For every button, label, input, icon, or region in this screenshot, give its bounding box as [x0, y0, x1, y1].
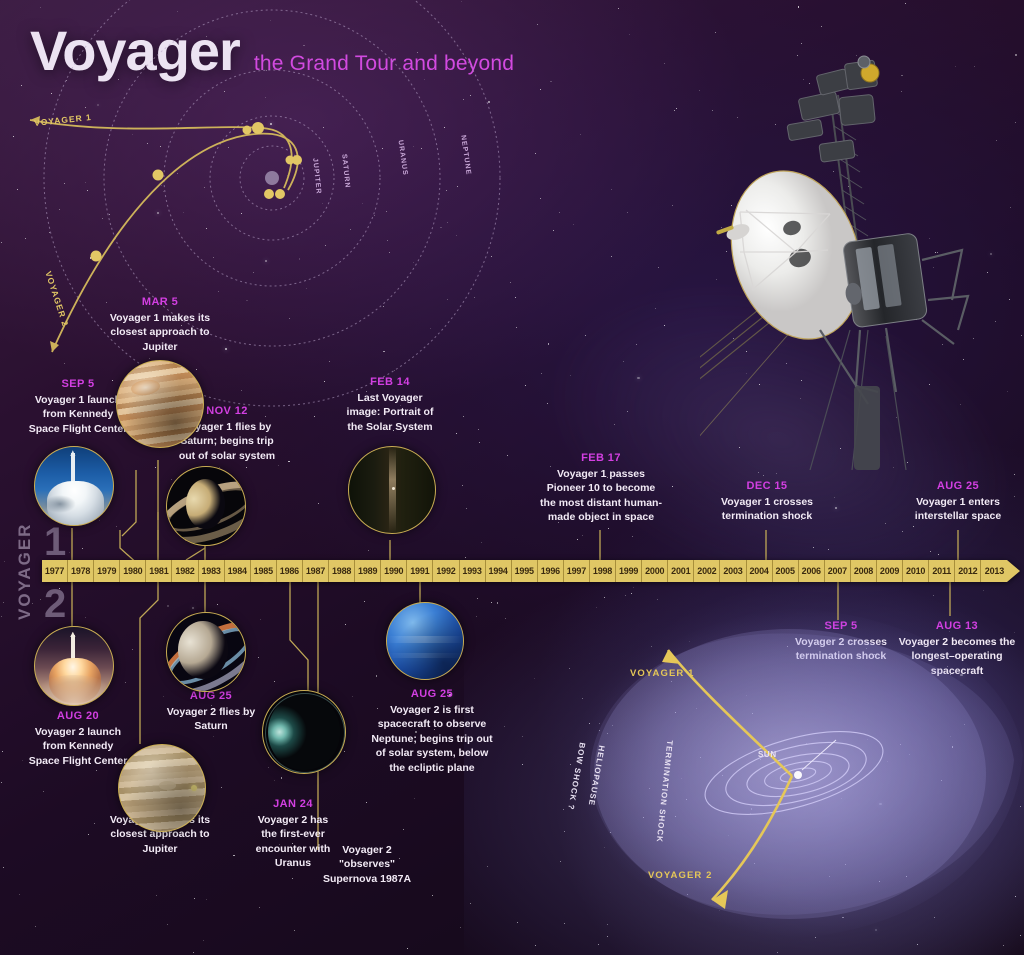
timeline[interactable]: 1977197819791980198119821983198419851986…: [42, 560, 1020, 582]
callout-text: Voyager 2 flies by Saturn: [160, 705, 262, 734]
sunbeam: [389, 447, 397, 533]
callout-date: AUG 20: [26, 710, 130, 722]
image-voyager1-launch[interactable]: [34, 446, 114, 526]
timeline-year-1992[interactable]: 1992: [433, 560, 459, 582]
timeline-year-1985[interactable]: 1985: [251, 560, 277, 582]
infographic-canvas: Voyager the Grand Tour and beyond: [0, 0, 1024, 955]
callout-text: Voyager 2 "observes" Supernova 1987A: [320, 843, 414, 886]
timeline-year-2000[interactable]: 2000: [642, 560, 668, 582]
orbit-label-saturn: SATURN: [340, 154, 351, 189]
timeline-year-1995[interactable]: 1995: [512, 560, 538, 582]
callout-text: Voyager 1 enters interstellar space: [904, 495, 1012, 524]
timeline-year-1991[interactable]: 1991: [407, 560, 433, 582]
timeline-year-1988[interactable]: 1988: [329, 560, 355, 582]
heliosphere-diagram: [540, 590, 1024, 955]
timeline-year-1982[interactable]: 1982: [172, 560, 198, 582]
callout-text: Voyager 1 passes Pioneer 10 to become th…: [540, 467, 662, 525]
timeline-year-1979[interactable]: 1979: [94, 560, 120, 582]
voyager-2-marker: 2: [44, 584, 66, 624]
timeline-year-2007[interactable]: 2007: [825, 560, 851, 582]
callout-date: AUG 25: [160, 690, 262, 702]
callout-date: MAR 5: [98, 296, 222, 308]
callout-date: DEC 15: [710, 480, 824, 492]
planet-shading: [387, 603, 463, 679]
callout-date: FEB 14: [344, 376, 436, 388]
timeline-year-2003[interactable]: 2003: [720, 560, 746, 582]
callout-text: Voyager 1 makes its closest approach to …: [98, 311, 222, 354]
callout-text: Voyager 2 launch from Kennedy Space Flig…: [26, 725, 130, 768]
callout-date: AUG 25: [904, 480, 1012, 492]
timeline-year-1986[interactable]: 1986: [277, 560, 303, 582]
timeline-year-2008[interactable]: 2008: [851, 560, 877, 582]
callout-aug20-launch[interactable]: AUG 20 Voyager 2 launch from Kennedy Spa…: [26, 710, 130, 768]
callout-supernova-1987a[interactable]: Voyager 2 "observes" Supernova 1987A: [320, 843, 414, 886]
helio-label-sun: SUN: [758, 750, 777, 759]
timeline-year-1990[interactable]: 1990: [381, 560, 407, 582]
callout-dec15-termination[interactable]: DEC 15 Voyager 1 crosses termination sho…: [710, 480, 824, 524]
trajectory-label-voyager-1: VOYAGER 1: [34, 112, 93, 128]
launch-shadow: [44, 495, 75, 512]
callout-text: Voyager 1 crosses termination shock: [710, 495, 824, 524]
timeline-year-2009[interactable]: 2009: [877, 560, 903, 582]
timeline-year-2013[interactable]: 2013: [981, 560, 1007, 582]
callout-aug25-saturn[interactable]: AUG 25 Voyager 2 flies by Saturn: [160, 690, 262, 734]
helio-label-voyager-2: VOYAGER 2: [648, 870, 712, 881]
orbit-label-uranus: URANUS: [397, 140, 409, 177]
callout-text: Voyager 1 launch from Kennedy Space Flig…: [26, 393, 130, 436]
orbit-label-neptune: NEPTUNE: [459, 135, 472, 176]
timeline-year-2002[interactable]: 2002: [694, 560, 720, 582]
page-subtitle: the Grand Tour and beyond: [254, 52, 514, 76]
timeline-year-1997[interactable]: 1997: [564, 560, 590, 582]
saturn-body: [178, 621, 228, 679]
planet-shading: [117, 361, 203, 447]
timeline-year-1981[interactable]: 1981: [146, 560, 172, 582]
orbit-label-jupiter: JUPITER: [311, 158, 322, 195]
voyager-spacecraft-illustration: [700, 0, 1024, 470]
timeline-year-1987[interactable]: 1987: [303, 560, 329, 582]
callout-date: JAN 24: [252, 798, 334, 810]
timeline-year-2010[interactable]: 2010: [903, 560, 929, 582]
trajectory-label-voyager-2: VOYAGER 2: [43, 270, 70, 328]
planet-shading: [119, 745, 205, 831]
uranus-ring: [265, 693, 346, 774]
timeline-year-1983[interactable]: 1983: [199, 560, 225, 582]
timeline-year-1994[interactable]: 1994: [486, 560, 512, 582]
image-pale-blue-dot[interactable]: [348, 446, 436, 534]
callout-text: Voyager 2 is first spacecraft to observe…: [368, 703, 496, 775]
timeline-year-1999[interactable]: 1999: [616, 560, 642, 582]
timeline-arrow-icon: [1007, 560, 1020, 582]
timeline-year-2001[interactable]: 2001: [668, 560, 694, 582]
image-neptune[interactable]: [386, 602, 464, 680]
image-saturn-voyager2[interactable]: [166, 612, 246, 692]
callout-date: AUG 25: [368, 688, 496, 700]
callout-mar5-jupiter[interactable]: MAR 5 Voyager 1 makes its closest approa…: [98, 296, 222, 354]
timeline-year-1993[interactable]: 1993: [460, 560, 486, 582]
timeline-year-1978[interactable]: 1978: [68, 560, 94, 582]
callout-aug25-interstellar[interactable]: AUG 25 Voyager 1 enters interstellar spa…: [904, 480, 1012, 524]
timeline-year-bar[interactable]: 1977197819791980198119821983198419851986…: [42, 560, 1007, 582]
helio-label-voyager-1: VOYAGER 1: [630, 668, 694, 679]
saturn-body: [186, 479, 225, 529]
page-title: Voyager: [30, 18, 240, 83]
callout-feb17-pioneer[interactable]: FEB 17 Voyager 1 passes Pioneer 10 to be…: [540, 452, 662, 525]
callout-date: SEP 5: [26, 378, 130, 390]
timeline-year-1996[interactable]: 1996: [538, 560, 564, 582]
timeline-year-1998[interactable]: 1998: [590, 560, 616, 582]
timeline-year-1977[interactable]: 1977: [42, 560, 68, 582]
timeline-year-2006[interactable]: 2006: [799, 560, 825, 582]
timeline-year-1984[interactable]: 1984: [225, 560, 251, 582]
image-jupiter-voyager2[interactable]: [118, 744, 206, 832]
callout-feb14-portrait[interactable]: FEB 14 Last Voyager image: Portrait of t…: [344, 376, 436, 434]
timeline-axis-label: VOYAGER: [12, 516, 38, 626]
callout-aug25-neptune[interactable]: AUG 25 Voyager 2 is first spacecraft to …: [368, 688, 496, 775]
timeline-year-2011[interactable]: 2011: [929, 560, 955, 582]
image-voyager2-launch[interactable]: [34, 626, 114, 706]
timeline-year-1989[interactable]: 1989: [355, 560, 381, 582]
callout-sep5-launch[interactable]: SEP 5 Voyager 1 launch from Kennedy Spac…: [26, 378, 130, 436]
callout-text: Last Voyager image: Portrait of the Sola…: [344, 391, 436, 434]
image-saturn-voyager1[interactable]: [166, 466, 246, 546]
timeline-year-1980[interactable]: 1980: [120, 560, 146, 582]
image-jupiter-voyager1[interactable]: [116, 360, 204, 448]
timeline-year-2012[interactable]: 2012: [955, 560, 981, 582]
voyager-1-marker: 1: [44, 522, 66, 562]
timeline-year-2004[interactable]: 2004: [747, 560, 773, 582]
callout-date: FEB 17: [540, 452, 662, 464]
timeline-year-2005[interactable]: 2005: [773, 560, 799, 582]
page-header: Voyager the Grand Tour and beyond: [30, 18, 514, 83]
image-uranus[interactable]: [262, 690, 346, 774]
launch-smoke: [37, 675, 112, 705]
